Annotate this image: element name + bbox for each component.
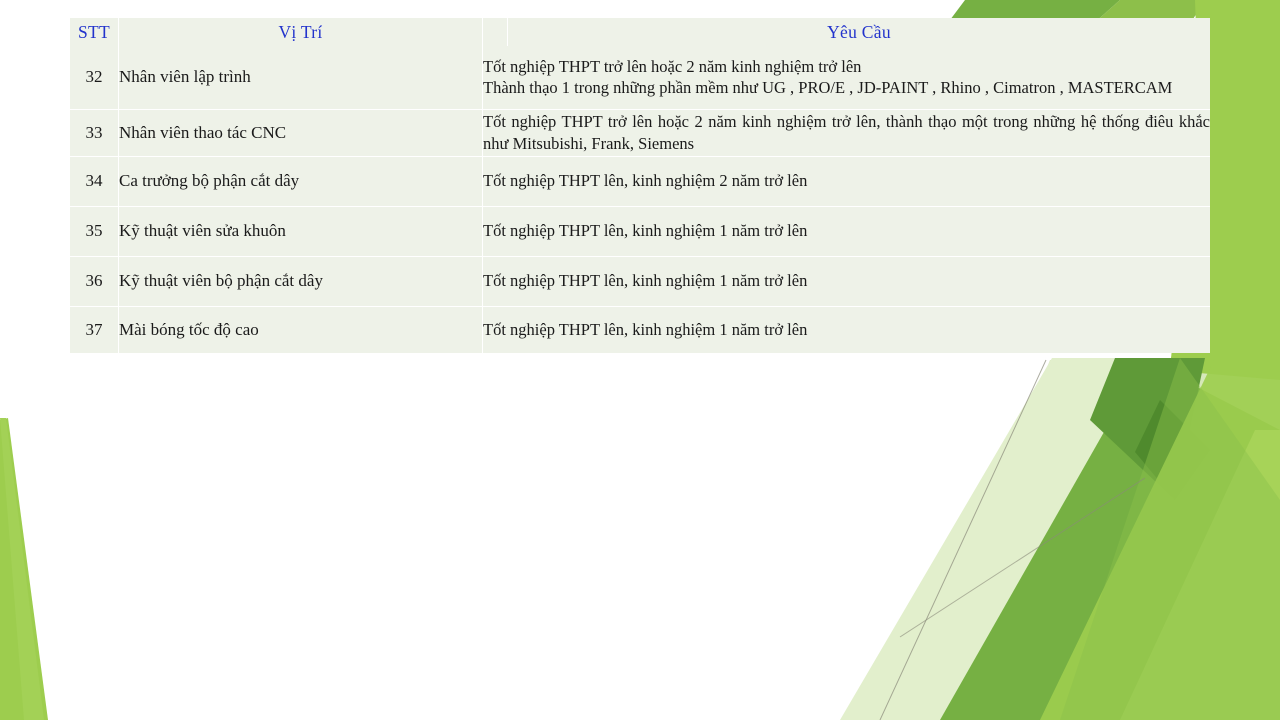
cell-stt: 36	[70, 256, 119, 306]
table-row: 35 Kỹ thuật viên sửa khuôn Tốt nghiệp TH…	[70, 206, 1210, 256]
decor-hairline-2	[900, 478, 1145, 637]
cell-vitri: Nhân viên lập trình	[119, 46, 483, 109]
cell-stt: 34	[70, 156, 119, 206]
decor-bottom-dark-triangle	[1090, 358, 1205, 500]
requirement-line: Tốt nghiệp THPT trở lên hoặc 2 năm kinh …	[483, 111, 1210, 153]
cell-yeucau: Tốt nghiệp THPT lên, kinh nghiệm 1 năm t…	[483, 306, 1211, 353]
cell-yeucau: Tốt nghiệp THPT lên, kinh nghiệm 1 năm t…	[483, 206, 1211, 256]
requirement-line: Tốt nghiệp THPT lên, kinh nghiệm 2 năm t…	[483, 170, 1210, 191]
cell-vitri: Kỹ thuật viên bộ phận cắt dây	[119, 256, 483, 306]
column-header-spacer	[483, 18, 508, 46]
cell-vitri: Nhân viên thao tác CNC	[119, 109, 483, 156]
table-header-row: STT Vị Trí Yêu Cầu	[70, 18, 1210, 46]
decor-left-wedge-edge	[0, 418, 44, 720]
cell-yeucau: Tốt nghiệp THPT trở lên hoặc 2 năm kinh …	[483, 46, 1211, 109]
cell-stt: 32	[70, 46, 119, 109]
cell-stt: 35	[70, 206, 119, 256]
decor-bottom-bright-1	[1040, 358, 1280, 720]
table-row: 36 Kỹ thuật viên bộ phận cắt dây Tốt ngh…	[70, 256, 1210, 306]
requirement-line: Tốt nghiệp THPT trở lên hoặc 2 năm kinh …	[483, 56, 1210, 77]
decor-bottom-pale-wedge	[840, 358, 1175, 720]
cell-vitri: Kỹ thuật viên sửa khuôn	[119, 206, 483, 256]
slide-canvas: STT Vị Trí Yêu Cầu 32 Nhân viên lập trìn…	[0, 0, 1280, 720]
decor-bottom-bright-2	[1120, 430, 1280, 720]
table-row: 32 Nhân viên lập trình Tốt nghiệp THPT t…	[70, 46, 1210, 109]
decor-bottom-soft-overlay	[1060, 358, 1280, 720]
cell-yeucau: Tốt nghiệp THPT lên, kinh nghiệm 1 năm t…	[483, 256, 1211, 306]
decor-bottom-darkest-triangle	[1135, 400, 1210, 500]
cell-stt: 33	[70, 109, 119, 156]
decor-left-wedge	[0, 418, 48, 720]
decor-bottom-pale-large	[905, 360, 1280, 720]
cell-stt: 37	[70, 306, 119, 353]
requirement-line: Tốt nghiệp THPT lên, kinh nghiệm 1 năm t…	[483, 319, 1210, 340]
column-header-stt: STT	[70, 18, 119, 46]
cell-yeucau: Tốt nghiệp THPT lên, kinh nghiệm 2 năm t…	[483, 156, 1211, 206]
column-header-yeucau: Yêu Cầu	[508, 18, 1211, 46]
table-row: 37 Mài bóng tốc độ cao Tốt nghiệp THPT l…	[70, 306, 1210, 353]
cell-vitri: Mài bóng tốc độ cao	[119, 306, 483, 353]
table-row: 34 Ca trưởng bộ phận cắt dây Tốt nghiệp …	[70, 156, 1210, 206]
table-row: 33 Nhân viên thao tác CNC Tốt nghiệp THP…	[70, 109, 1210, 156]
cell-vitri: Ca trưởng bộ phận cắt dây	[119, 156, 483, 206]
requirement-line: Tốt nghiệp THPT lên, kinh nghiệm 1 năm t…	[483, 270, 1210, 291]
job-requirements-table: STT Vị Trí Yêu Cầu 32 Nhân viên lập trìn…	[70, 18, 1210, 353]
column-header-vitri: Vị Trí	[119, 18, 483, 46]
requirement-line: Tốt nghiệp THPT lên, kinh nghiệm 1 năm t…	[483, 220, 1210, 241]
decor-bottom-mid-green	[940, 360, 1280, 720]
decor-hairline-1	[880, 360, 1046, 720]
cell-yeucau: Tốt nghiệp THPT trở lên hoặc 2 năm kinh …	[483, 109, 1211, 156]
requirement-line: Thành thạo 1 trong những phần mềm như UG…	[483, 77, 1210, 98]
